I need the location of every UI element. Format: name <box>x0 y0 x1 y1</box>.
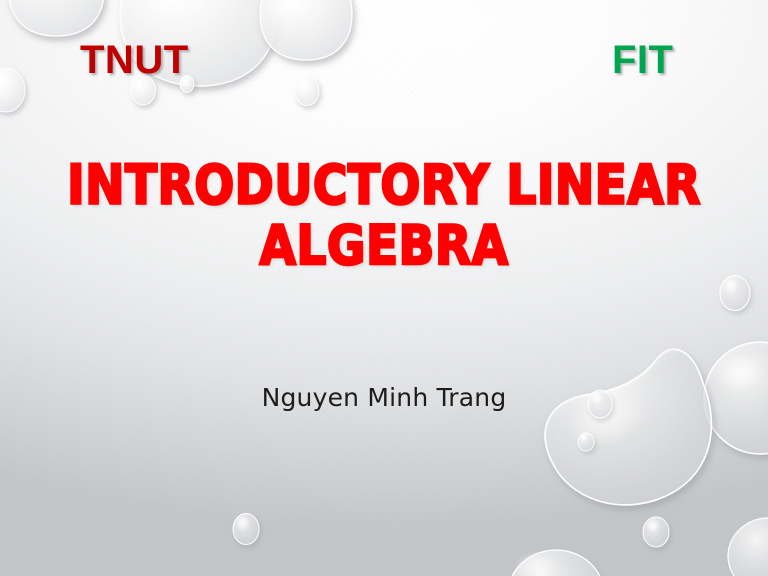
slide-author: Nguyen Minh Trang <box>134 383 634 413</box>
droplet-top-right-rounded <box>260 0 352 60</box>
slide-title-line-2: ALGEBRA <box>64 216 704 276</box>
slide-title-line-1: INTRODUCTORY LINEAR <box>64 156 704 216</box>
droplet-right-bottom-partial <box>728 518 768 576</box>
droplet-bottom-corner <box>508 550 604 576</box>
droplet-right-large-round <box>704 342 768 454</box>
corner-tag-left: TNUT <box>80 40 189 80</box>
droplet-small-b <box>295 77 319 106</box>
droplet-left-edge <box>0 68 25 112</box>
corner-tag-right: FIT <box>612 40 673 80</box>
droplet-top-left-rounded <box>8 0 104 36</box>
background-texture <box>0 0 768 576</box>
droplet-bottom-center <box>233 514 259 545</box>
droplet-decoration-layer <box>0 0 768 576</box>
slide-title: INTRODUCTORY LINEAR ALGEBRA <box>64 156 704 277</box>
droplet-bottom-right-blob <box>545 349 711 505</box>
presentation-slide: TNUT FIT INTRODUCTORY LINEAR ALGEBRA Ngu… <box>0 0 768 576</box>
droplet-small-d <box>643 517 669 547</box>
droplet-tiny-b <box>578 433 594 451</box>
droplet-right-upper <box>720 276 750 311</box>
